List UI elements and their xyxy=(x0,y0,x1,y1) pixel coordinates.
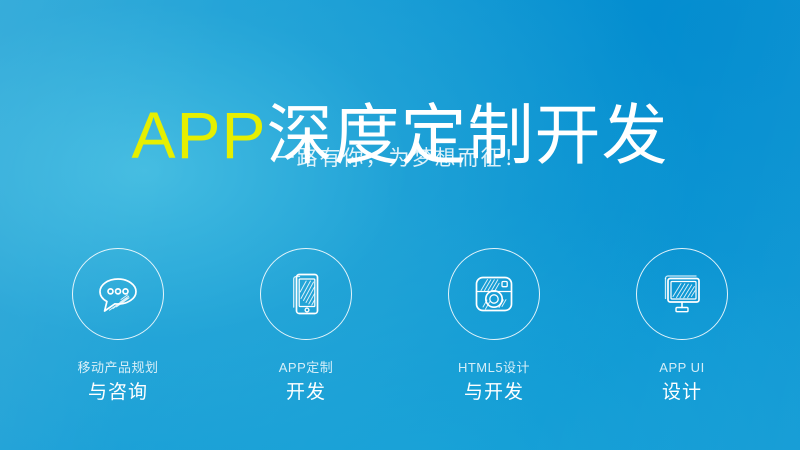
feature-label-main: 开发 xyxy=(279,383,334,402)
feature-icon-circle xyxy=(260,248,352,340)
feature-label-top: 移动产品规划 xyxy=(77,361,158,374)
feature-item-consulting[interactable]: 移动产品规划 与咨询 xyxy=(24,248,212,402)
feature-label-main: 与咨询 xyxy=(77,383,158,402)
promo-banner: APP深度定制开发 一路有你，为梦想而征！ xyxy=(0,0,800,450)
feature-icon-circle xyxy=(636,248,728,340)
feature-label-top: APP定制 xyxy=(279,361,334,374)
page-subtitle: 一路有你，为梦想而征！ xyxy=(0,148,800,169)
feature-label-group: APP UI 设计 xyxy=(659,361,704,402)
feature-list: 移动产品规划 与咨询 xyxy=(0,248,800,402)
feature-label-group: 移动产品规划 与咨询 xyxy=(77,361,158,402)
feature-item-app-development[interactable]: APP定制 开发 xyxy=(212,248,400,402)
feature-icon-circle xyxy=(448,248,540,340)
feature-label-main: 与开发 xyxy=(458,383,530,402)
feature-label-top: HTML5设计 xyxy=(458,361,530,374)
camera-icon xyxy=(466,266,522,322)
tablet-device-icon xyxy=(278,266,334,322)
speech-bubble-icon xyxy=(90,266,146,322)
feature-label-group: HTML5设计 与开发 xyxy=(458,361,530,402)
feature-label-group: APP定制 开发 xyxy=(279,361,334,402)
desktop-monitor-icon xyxy=(653,265,711,323)
feature-icon-circle xyxy=(72,248,164,340)
feature-item-html5-design[interactable]: HTML5设计 与开发 xyxy=(400,248,588,402)
feature-label-main: 设计 xyxy=(659,383,704,402)
feature-label-top: APP UI xyxy=(659,361,704,374)
feature-item-app-ui-design[interactable]: APP UI 设计 xyxy=(588,248,776,402)
